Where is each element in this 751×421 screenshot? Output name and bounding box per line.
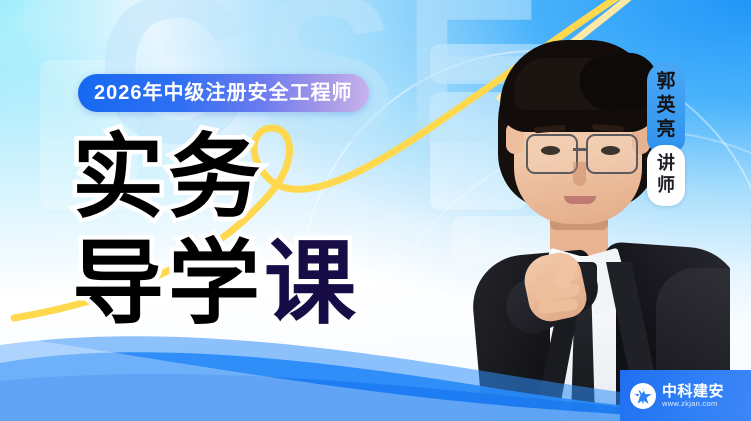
headline-line-2-text-a: 导学 <box>72 230 264 337</box>
instructor-name-char-0: 郭 <box>656 71 675 93</box>
headline-line-2: 导学课 <box>72 238 360 330</box>
instructor-name-block: 郭 英 亮 <box>647 62 685 153</box>
photo-nose <box>573 162 586 186</box>
course-badge-label: 2026年中级注册安全工程师 <box>94 83 353 103</box>
photo-eyeglass-right <box>586 134 638 174</box>
photo-mouth <box>564 196 596 204</box>
headline-line-1-text: 实务 <box>72 124 264 231</box>
instructor-name-char-1: 英 <box>656 95 675 117</box>
brand-name: 中科建安 <box>662 384 724 399</box>
instructor-name-char-2: 亮 <box>656 119 675 141</box>
photo-eyeglass-left <box>526 134 578 174</box>
photo-eyeglass-bridge <box>573 148 587 151</box>
instructor-role-char-1: 师 <box>657 175 675 196</box>
instructor-role-block: 讲 师 <box>647 145 685 206</box>
brand-url: www.zkjan.com <box>662 400 724 408</box>
instructor-tag: 郭 英 亮 讲 师 <box>647 62 685 206</box>
brand-logo-text: 中科建安 www.zkjan.com <box>662 384 724 408</box>
course-promo-poster: CSE <box>0 0 751 421</box>
course-badge: 2026年中级注册安全工程师 <box>78 74 369 112</box>
headline-line-1: 实务 <box>72 132 264 224</box>
headline-line-2-text-b: 课 <box>264 230 360 337</box>
brand-logo[interactable]: 中科建安 www.zkjan.com <box>620 370 751 421</box>
instructor-role-char-0: 讲 <box>657 153 675 174</box>
zkjan-star-logo-icon <box>630 383 656 409</box>
